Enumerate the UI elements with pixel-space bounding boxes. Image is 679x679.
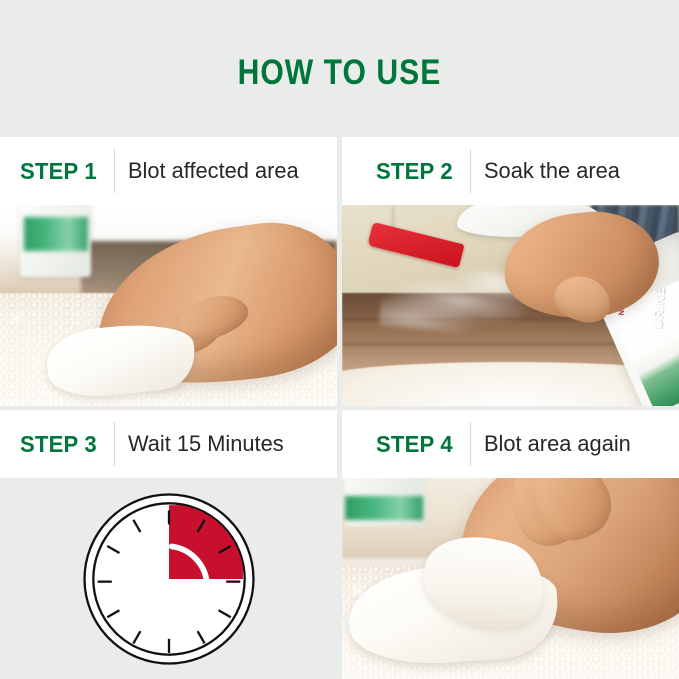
clock-elapsed-sector bbox=[169, 505, 243, 579]
step-2-caption: STEP 2 Soak the area bbox=[342, 137, 679, 205]
step-3-caption: STEP 3 Wait 15 Minutes bbox=[0, 410, 337, 478]
step-panel-2: STEP 2 Soak the area bbox=[342, 137, 679, 406]
bottle-product-name: URINE bbox=[650, 285, 668, 329]
step-panel-4: STEP 4 Blot area again bbox=[342, 410, 679, 679]
page-title: HOW TO USE bbox=[238, 45, 442, 93]
caption-divider bbox=[470, 422, 471, 466]
step-panel-3: STEP 3 Wait 15 Minutes bbox=[0, 410, 337, 679]
step-3-number: STEP 3 bbox=[20, 431, 97, 458]
caption-divider bbox=[114, 149, 115, 193]
step-4-caption: STEP 4 Blot area again bbox=[342, 410, 679, 478]
step-1-number: STEP 1 bbox=[20, 158, 97, 185]
step-1-caption: STEP 1 Blot affected area bbox=[0, 137, 337, 205]
step-4-number: STEP 4 bbox=[376, 431, 453, 458]
product-bottle-label-blurred bbox=[24, 217, 88, 251]
step-4-photo bbox=[342, 478, 679, 679]
header-band: HOW TO USE bbox=[0, 0, 679, 137]
step-4-instruction: Blot area again bbox=[484, 431, 631, 457]
step-1-instruction: Blot affected area bbox=[128, 158, 299, 184]
steps-grid: STEP 1 Blot affected area STEP 2 bbox=[0, 137, 679, 679]
clock-container bbox=[0, 478, 337, 679]
caption-divider bbox=[470, 149, 471, 193]
product-bottle-label-blurred bbox=[345, 496, 423, 520]
step-2-photo: NATURE'S MIRACLE URINE DESTROYER bbox=[342, 205, 679, 406]
step-1-photo bbox=[0, 205, 337, 406]
step-3-instruction: Wait 15 Minutes bbox=[128, 431, 284, 457]
how-to-use-infographic: HOW TO USE STEP 1 Blot affected area bbox=[0, 0, 679, 679]
bottle-product-subtitle: DESTROYER bbox=[666, 272, 679, 328]
step-2-number: STEP 2 bbox=[376, 158, 453, 185]
step-3-illustration bbox=[0, 478, 337, 679]
step-panel-1: STEP 1 Blot affected area bbox=[0, 137, 337, 406]
caption-divider bbox=[114, 422, 115, 466]
clock-icon bbox=[81, 491, 257, 667]
step-2-instruction: Soak the area bbox=[484, 158, 620, 184]
